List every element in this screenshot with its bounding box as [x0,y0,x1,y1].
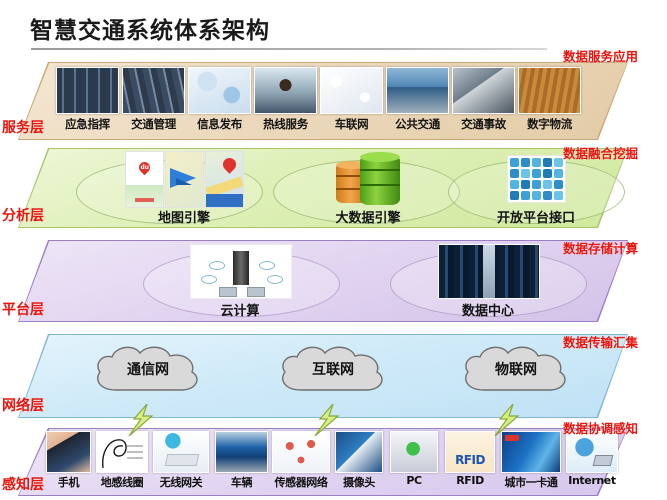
service-item-1[interactable]: 交通管理 [122,67,185,132]
perception-item-8-label: 城市一卡通 [501,474,561,490]
network-item-2-label: 物联网 [456,359,576,379]
information-release-photo [188,67,251,114]
perception-item-2[interactable]: 无线网关 [153,431,209,490]
perception-item-6[interactable]: PC [390,431,438,487]
surveillance-camera-photo [335,431,383,473]
digital-logistics-photo [518,67,581,114]
analysis-item-1-label: 大数据引擎 [318,207,418,226]
perception-item-3[interactable]: 车辆 [215,431,268,490]
platform-item-0[interactable]: 云计算 [190,244,290,319]
service-item-6-label: 交通事故 [452,116,515,132]
side-label-data-coordination-perception: 数据协调感知 [563,418,638,437]
data-center-photo [438,244,540,299]
service-item-3-label: 热线服务 [254,116,317,132]
perception-item-9[interactable]: Internet [566,431,618,487]
layer-label-analysis: 分析层 [2,205,44,225]
service-item-0-label: 应急指挥 [56,116,119,132]
analysis-item-1[interactable]: 大数据引擎 [318,151,418,226]
service-item-4-label: 车联网 [320,116,383,132]
service-item-4[interactable]: 车联网 [320,67,383,132]
database-cylinders-icon [318,151,418,206]
sensor-network-diagram [272,431,330,473]
perception-item-8[interactable]: 城市一卡通 [501,431,561,490]
network-item-0[interactable]: 通信网 [88,342,208,400]
traffic-accident-photo [452,67,515,114]
page-title: 智慧交通系统体系架构 [30,11,270,45]
city-transit-card [501,431,561,473]
analysis-item-0-label: 地图引擎 [124,207,244,226]
layer-label-network: 网络层 [2,395,44,415]
uplink-arrow-3 [492,404,520,436]
layer-service: 应急指挥 交通管理 信息发布 热线服务 车联网 公共交通 交通事故 数字物流 [18,62,628,140]
side-label-data-storage-computing: 数据存储计算 [563,238,638,257]
network-item-1-label: 互联网 [273,359,393,379]
internet-of-vehicles-photo [320,67,383,114]
perception-item-5[interactable]: 摄像头 [335,431,383,490]
analysis-item-2[interactable]: 开放平台接口 [486,151,586,226]
control-room-photo [56,67,119,114]
perception-item-9-label: Internet [566,474,618,487]
service-item-7-label: 数字物流 [518,116,581,132]
perception-item-0[interactable]: 手机 [46,431,91,490]
map-engine-icons: du [124,151,244,206]
network-item-1[interactable]: 互联网 [273,342,393,400]
rfid-logo: RFID [445,431,495,473]
rfid-logo-text: RFID [446,453,494,467]
side-label-data-service-application: 数据服务应用 [563,46,638,65]
perception-item-1[interactable]: 地感线圈 [96,431,148,490]
cloud-computing-diagram [190,244,292,299]
service-item-2-label: 信息发布 [188,116,251,132]
public-bus-photo [386,67,449,114]
uplink-arrow-1 [126,404,154,436]
platform-item-1[interactable]: 数据中心 [438,244,538,319]
platform-item-0-label: 云计算 [190,300,290,319]
service-item-1-label: 交通管理 [122,116,185,132]
perception-item-4[interactable]: 传感器网络 [272,431,330,490]
network-item-0-label: 通信网 [88,359,208,379]
perception-item-4-label: 传感器网络 [272,474,330,490]
traffic-control-room-photo [122,67,185,114]
perception-item-1-label: 地感线圈 [96,474,148,490]
service-item-0[interactable]: 应急指挥 [56,67,119,132]
title-divider [31,48,547,50]
layer-label-platform: 平台层 [2,299,44,319]
service-item-5[interactable]: 公共交通 [386,67,449,132]
desktop-computer-icon [390,431,438,473]
title-block: 智慧交通系统体系架构 [0,4,667,52]
layer-analysis: du 地图引擎 [18,148,628,228]
wireless-gateway-photo [153,431,209,473]
layer-perception: 手机 地感线圈 无线网关 车辆 传感器网络 摄像头 [18,428,628,496]
side-label-data-fusion-mining: 数据融合挖掘 [563,143,638,162]
perception-item-3-label: 车辆 [215,474,268,490]
analysis-item-0[interactable]: du 地图引擎 [124,151,244,226]
layer-platform: 云计算 数据中心 平台层 [18,240,628,322]
service-item-3[interactable]: 热线服务 [254,67,317,132]
perception-item-6-label: PC [390,474,438,487]
side-label-data-transmission-aggregation: 数据传输汇集 [563,332,638,351]
network-item-2[interactable]: 物联网 [456,342,576,400]
platform-item-1-label: 数据中心 [438,300,538,319]
perception-item-5-label: 摄像头 [335,474,383,490]
layer-label-service: 服务层 [2,117,44,137]
perception-item-7-label: RFID [445,474,495,487]
internet-globe-laptop [566,431,618,473]
vehicle-photo [215,431,268,473]
induction-loop-diagram [96,431,148,473]
perception-item-7[interactable]: RFID RFID [445,431,495,487]
perception-item-0-label: 手机 [46,474,91,490]
mobile-phone-photo [46,431,91,473]
service-item-6[interactable]: 交通事故 [452,67,515,132]
hotline-operator-photo [254,67,317,114]
analysis-item-2-label: 开放平台接口 [486,207,586,226]
service-item-5-label: 公共交通 [386,116,449,132]
service-item-2[interactable]: 信息发布 [188,67,251,132]
service-item-7[interactable]: 数字物流 [518,67,581,132]
perception-item-2-label: 无线网关 [153,474,209,490]
uplink-arrow-2 [312,404,340,436]
architecture-diagram: 智慧交通系统体系架构 应急指挥 交通管理 信息发布 热线服务 车联网 公共交通 [0,0,667,500]
layer-label-perception: 感知层 [2,474,44,494]
